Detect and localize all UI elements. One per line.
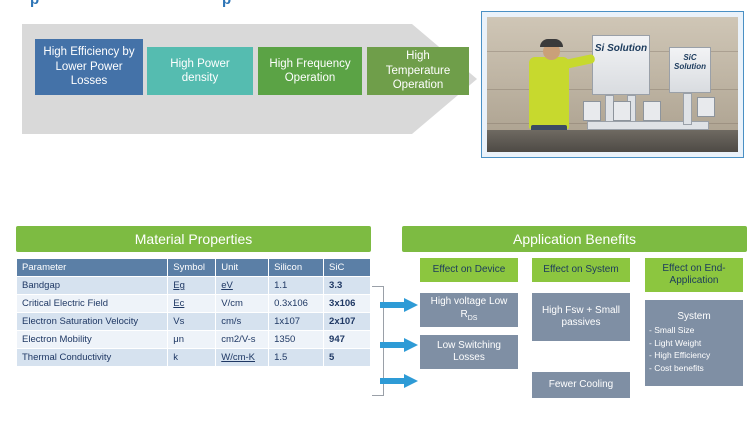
material-properties-header: Material Properties [16,226,371,252]
si-inverter-label: Si Solution [592,43,650,55]
benefit-chevron-box-4: High Temperature Operation [367,47,469,95]
junction-box-4 [697,97,715,117]
application-benefits-header: Application Benefits [402,226,747,252]
cell-unit: cm2/V-s [216,331,269,349]
benefit-end-application-item-4: - Cost benefits [649,363,704,373]
benefit-column-header-system: Effect on System [532,258,630,282]
rds-subscript: DS [468,315,478,322]
cell-parameter: Bandgap [17,277,168,295]
column-header-unit: Unit [216,259,269,277]
cell-unit: W/cm-K [216,349,269,367]
benefit-device-low-switching-losses: Low Switching Losses [420,335,518,369]
cell-silicon: 0.3x106 [269,295,324,313]
worker-helmet [540,39,563,47]
benefit-device-high-voltage: High voltage Low RDS [420,293,518,327]
cell-sic: 2x107 [324,313,371,331]
cell-unit: V/cm [216,295,269,313]
heading-part-3: p [222,0,231,8]
table-row: Electron Mobility μn cm2/V-s 1350 947 [17,331,371,349]
benefit-system-high-fsw: High Fsw + Small passives [532,293,630,341]
junction-box-1 [583,101,601,121]
floor [487,130,738,152]
cell-silicon: 1x107 [269,313,324,331]
conduit-vertical-3 [683,93,692,125]
arrow-to-device-1 [380,298,418,312]
table-row: Thermal Conductivity k W/cm-K 1.5 5 [17,349,371,367]
benefit-chevron-box-3: High Frequency Operation [258,47,362,95]
benefit-end-application-title: System [649,311,739,324]
column-header-sic: SiC [324,259,371,277]
benefit-end-application-item-2: - Light Weight [649,338,701,348]
cell-sic: 947 [324,331,371,349]
column-header-silicon: Silicon [269,259,324,277]
benefit-column-header-device: Effect on Device [420,258,518,282]
cell-silicon: 1.1 [269,277,324,295]
cell-parameter: Electron Saturation Velocity [17,313,168,331]
installation-photo-frame: Si Solution SiC Solution [481,11,744,158]
table-row: Bandgap Eg eV 1.1 3.3 [17,277,371,295]
cell-parameter: Thermal Conductivity [17,349,168,367]
cell-parameter: Electron Mobility [17,331,168,349]
worker-body [529,57,569,129]
heading-part-1: p [30,0,39,8]
cell-symbol: μn [168,331,216,349]
column-header-symbol: Symbol [168,259,216,277]
cell-symbol: Vs [168,313,216,331]
cell-sic: 3x106 [324,295,371,313]
cell-parameter: Critical Electric Field [17,295,168,313]
benefit-end-application-item-3: - High Efficiency [649,350,710,360]
cell-silicon: 1350 [269,331,324,349]
junction-box-3 [643,101,661,121]
benefit-chevron-box-1: High Efficiency by Lower Power Losses [35,39,143,95]
table-row: Electron Saturation Velocity Vs cm/s 1x1… [17,313,371,331]
arrow-to-device-2 [380,338,418,352]
material-properties-table: Parameter Symbol Unit Silicon SiC Bandga… [16,258,371,367]
cell-silicon: 1.5 [269,349,324,367]
benefit-end-application-item-1: - Small Size [649,325,694,335]
table-row: Critical Electric Field Ec V/cm 0.3x106 … [17,295,371,313]
cell-unit: eV [216,277,269,295]
cell-symbol: k [168,349,216,367]
table-header-row: Parameter Symbol Unit Silicon SiC [17,259,371,277]
benefit-system-fewer-cooling: Fewer Cooling [532,372,630,398]
cell-sic: 5 [324,349,371,367]
page-heading-strip: p p [0,0,751,10]
column-header-parameter: Parameter [17,259,168,277]
sic-inverter-label: SiC Solution [669,53,711,71]
benefit-end-application-system: System - Small Size - Light Weight - Hig… [645,300,743,386]
cell-symbol: Eg [168,277,216,295]
arrow-to-device-3 [380,374,418,388]
cell-symbol: Ec [168,295,216,313]
cell-unit: cm/s [216,313,269,331]
benefit-column-header-end-application: Effect on End-Application [645,258,743,292]
cell-sic: 3.3 [324,277,371,295]
junction-box-2 [613,101,631,121]
installation-photo: Si Solution SiC Solution [487,17,738,152]
benefit-chevron-box-2: High Power density [147,47,253,95]
benefit-device-high-voltage-label: High voltage Low RDS [424,296,514,323]
